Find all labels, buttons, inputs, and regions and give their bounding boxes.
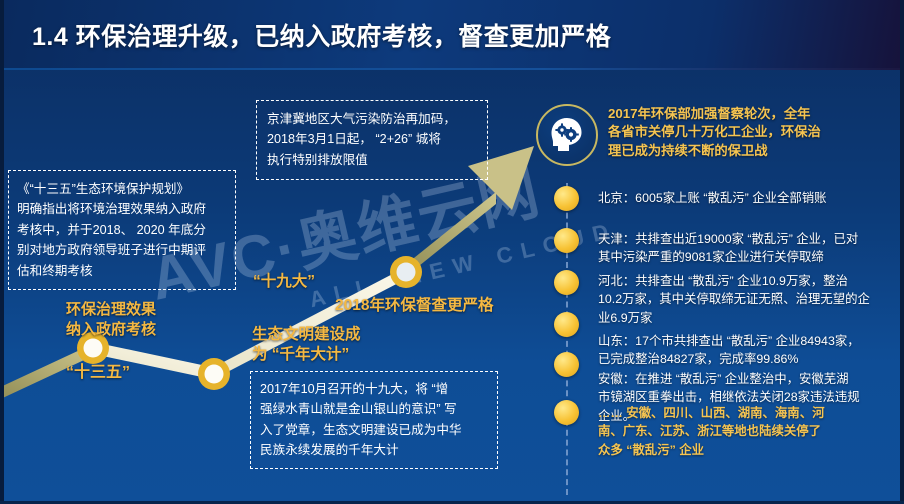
shandong-line-0: 山东：17个市共排查出 “散乱污” 企业84943家， — [598, 332, 904, 350]
textbox-19th-line-3: 民族永续发展的千年大计 — [260, 440, 489, 460]
hebei-line-1: 10.2万家，其中关停取缔无证无照、治理无望的企 — [598, 290, 904, 308]
annotation-eco-line2: 为 “千年大计” — [252, 345, 361, 365]
textbox-1135-line-3: 别对地方政府领导班子进行中期评 — [17, 240, 228, 260]
header-underline — [0, 68, 904, 70]
hebei-line-2: 业6.9万家 — [598, 309, 904, 327]
timeline-text-hebei: 河北：共排查出 “散乱污” 企业10.9万家，整治 10.2万家，其中关停取缔无… — [598, 272, 904, 327]
timeline-dot-icon — [554, 228, 579, 253]
timeline-text-tianjin: 天津：共排查出近19000家 “散乱污” 企业，已对 其中污染严重的9081家企… — [598, 230, 904, 267]
frame-edge-right — [900, 0, 904, 504]
timeline-dot-icon — [554, 400, 579, 425]
right-timeline-panel: 2017年环保部加强督察轮次，全年 各省市关停几十万化工企业，环保治 理已成为持… — [528, 98, 904, 498]
right-headline-line-1: 各省市关停几十万化工企业，环保治 — [608, 123, 904, 141]
others-line-2: 众多 “散乱污” 企业 — [598, 441, 904, 459]
textbox-nineteenth-congress: 2017年10月召开的十九大，将 “增 强绿水青山就是金山银山的意识” 写 入了… — [250, 371, 498, 469]
textbox-1135-line-4: 估和终期考核 — [17, 261, 228, 281]
page-title: 1.4 环保治理升级，已纳入政府考核，督查更加严格 — [32, 17, 611, 53]
timeline-text-shandong: 山东：17个市共排查出 “散乱污” 企业84943家， 已完成整治84827家，… — [598, 332, 904, 369]
frame-edge-left — [0, 0, 4, 504]
annotation-effect-into-assessment: 环保治理效果 纳入政府考核 — [66, 300, 156, 339]
tianjin-line-0: 天津：共排查出近19000家 “散乱污” 企业，已对 — [598, 230, 904, 248]
annotation-effect-line2: 纳入政府考核 — [66, 320, 156, 340]
shandong-line-1: 已完成整治84827家，完成率99.86% — [598, 350, 904, 368]
timeline-dot-icon — [554, 186, 579, 211]
textbox-jjj-line-1: 2018年3月1日起， “2+26” 城将 — [267, 129, 479, 149]
timeline-dot-icon — [554, 312, 579, 337]
timeline-text-beijing: 北京：6005家上账 “散乱污” 企业全部销账 — [598, 189, 904, 207]
timeline-dot-icon — [554, 352, 579, 377]
textbox-jjj-line-0: 京津冀地区大气污染防治再加码， — [267, 109, 479, 129]
right-headline-line-0: 2017年环保部加强督察轮次，全年 — [608, 105, 904, 123]
right-headline-line-2: 理已成为持续不断的保卫战 — [608, 142, 904, 160]
annotation-label-19th: “十九大” — [253, 272, 315, 292]
annotation-label-1135: “十三五” — [66, 363, 130, 384]
textbox-19th-line-1: 强绿水青山就是金山银山的意识” 写 — [260, 399, 489, 419]
textbox-1135-line-0: 《“十三五”生态环境保护规划》 — [17, 179, 228, 199]
chart-node-19th — [198, 358, 230, 390]
others-line-1: 南、广东、江苏、浙江等地也陆续关停了 — [598, 422, 904, 440]
right-panel-headline: 2017年环保部加强督察轮次，全年 各省市关停几十万化工企业，环保治 理已成为持… — [608, 105, 904, 160]
timeline-text-other-provinces: …… 安徽、四川、山西、湖南、海南、河 南、广东、江苏、浙江等地也陆续关停了 众… — [598, 404, 904, 459]
textbox-1135-line-2: 考核中，并于2018、 2020 年底分 — [17, 220, 228, 240]
timeline-dot-icon — [554, 270, 579, 295]
annotation-eco-line1: 生态文明建设成 — [252, 325, 361, 345]
tianjin-line-1: 其中污染严重的9081家企业进行关停取缔 — [598, 248, 904, 266]
chart-node-2018 — [390, 256, 422, 288]
annotation-eco-civilization: 生态文明建设成 为 “千年大计” — [252, 325, 361, 365]
annotation-effect-line1: 环保治理效果 — [66, 300, 156, 320]
anhui-line-0: 安徽：在推进 “散乱污” 企业整治中，安徽芜湖 — [598, 370, 904, 388]
textbox-jingjinji: 京津冀地区大气污染防治再加码， 2018年3月1日起， “2+26” 城将 执行… — [256, 100, 488, 180]
textbox-1135-line-1: 明确指出将环境治理效果纳入政府 — [17, 199, 228, 219]
head-gears-icon — [536, 104, 598, 166]
others-line-0: …… 安徽、四川、山西、湖南、海南、河 — [598, 404, 904, 422]
textbox-19th-line-2: 入了党章，生态文明建设已成为中华 — [260, 420, 489, 440]
textbox-19th-line-0: 2017年10月召开的十九大，将 “增 — [260, 379, 489, 399]
slide-canvas: AVC·奥维云网 ALL VIEW CLOUD — [0, 0, 904, 504]
textbox-1135-plan: 《“十三五”生态环境保护规划》 明确指出将环境治理效果纳入政府 考核中，并于20… — [8, 170, 236, 290]
textbox-jjj-line-2: 执行特别排放限值 — [267, 150, 479, 170]
annotation-supervision-2018: 2018年环保督查更严格 — [335, 296, 493, 316]
beijing-line-0: 北京：6005家上账 “散乱污” 企业全部销账 — [598, 189, 904, 207]
hebei-line-0: 河北：共排查出 “散乱污” 企业10.9万家，整治 — [598, 272, 904, 290]
